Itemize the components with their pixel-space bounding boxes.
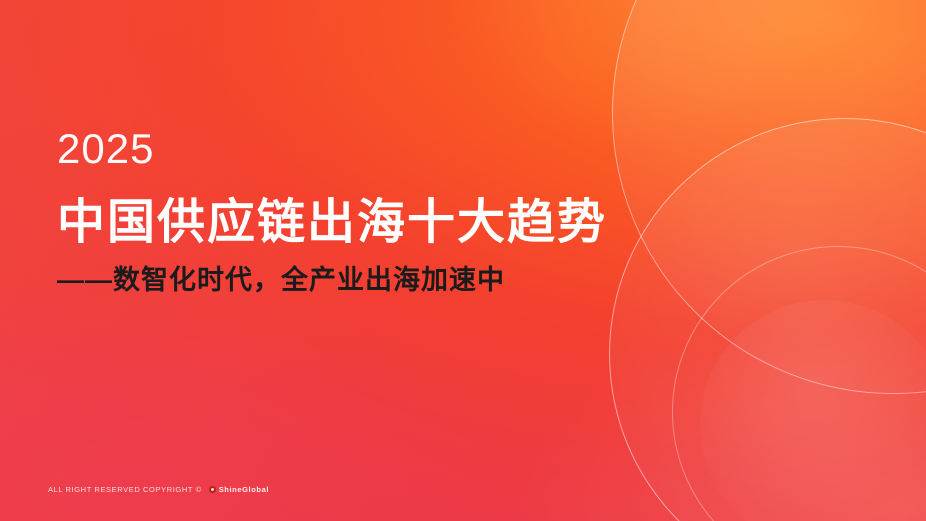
year-label: 2025 xyxy=(57,128,697,170)
copyright-text: ALL RIGHT RESERVED COPYRIGHT © xyxy=(48,485,202,494)
page-subtitle: ——数智化时代，全产业出海加速中 xyxy=(57,264,697,296)
title-slide: 2025 中国供应链出海十大趋势 ——数智化时代，全产业出海加速中 ALL RI… xyxy=(0,0,926,521)
page-title: 中国供应链出海十大趋势 xyxy=(57,196,697,250)
title-block: 2025 中国供应链出海十大趋势 ——数智化时代，全产业出海加速中 xyxy=(57,128,697,296)
brand-name: ShineGlobal xyxy=(219,485,269,494)
brand-dot-icon xyxy=(209,486,216,493)
brand-logo: ShineGlobal xyxy=(209,485,269,494)
footer: ALL RIGHT RESERVED COPYRIGHT © ShineGlob… xyxy=(48,485,269,494)
